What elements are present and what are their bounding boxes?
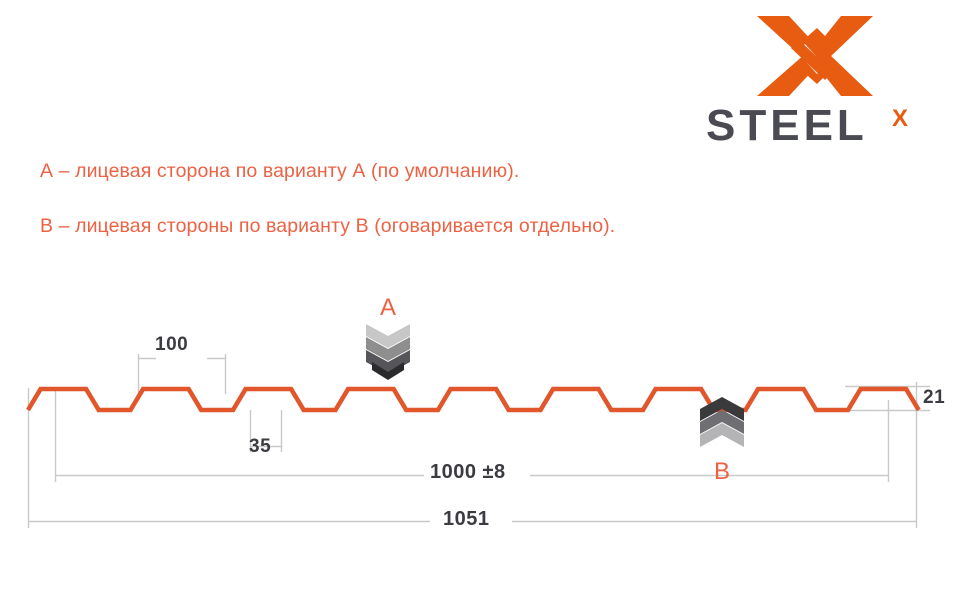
- chevron-up-icon: [700, 397, 744, 447]
- dimension-label-working-width: 1000 ±8: [430, 461, 506, 484]
- profile-polyline: [28, 389, 919, 410]
- marker-a-label: А: [368, 294, 408, 322]
- wordmark-superscript: X: [892, 105, 908, 132]
- marker-b-label: В: [702, 458, 742, 486]
- dimension-label-pitch: 100: [155, 334, 188, 356]
- steelx-x-logo-mark: [755, 14, 875, 98]
- dimension-label-valley-width: 35: [249, 436, 271, 458]
- legend-line-b: В – лицевая стороны по варианту В (огова…: [40, 215, 615, 238]
- drawing-canvas: STEEL X STEEL X А – лицевая сторона по в…: [0, 0, 970, 593]
- chevron-down-icon: [366, 324, 410, 380]
- dimension-label-height: 21: [923, 387, 945, 409]
- dimension-label-overall-width: 1051: [443, 508, 490, 531]
- dimension-lines: [29, 354, 931, 528]
- marker-a-chevrons: [364, 322, 412, 380]
- brand-logo: STEEL X: [700, 14, 940, 150]
- profile-drawing: А В 100 35: [0, 270, 970, 560]
- marker-b-chevrons: [698, 395, 746, 453]
- brand-wordmark: STEEL X: [706, 104, 938, 150]
- legend-line-a: А – лицевая сторона по варианту А (по ум…: [40, 160, 519, 183]
- wordmark-text: STEEL: [706, 104, 868, 150]
